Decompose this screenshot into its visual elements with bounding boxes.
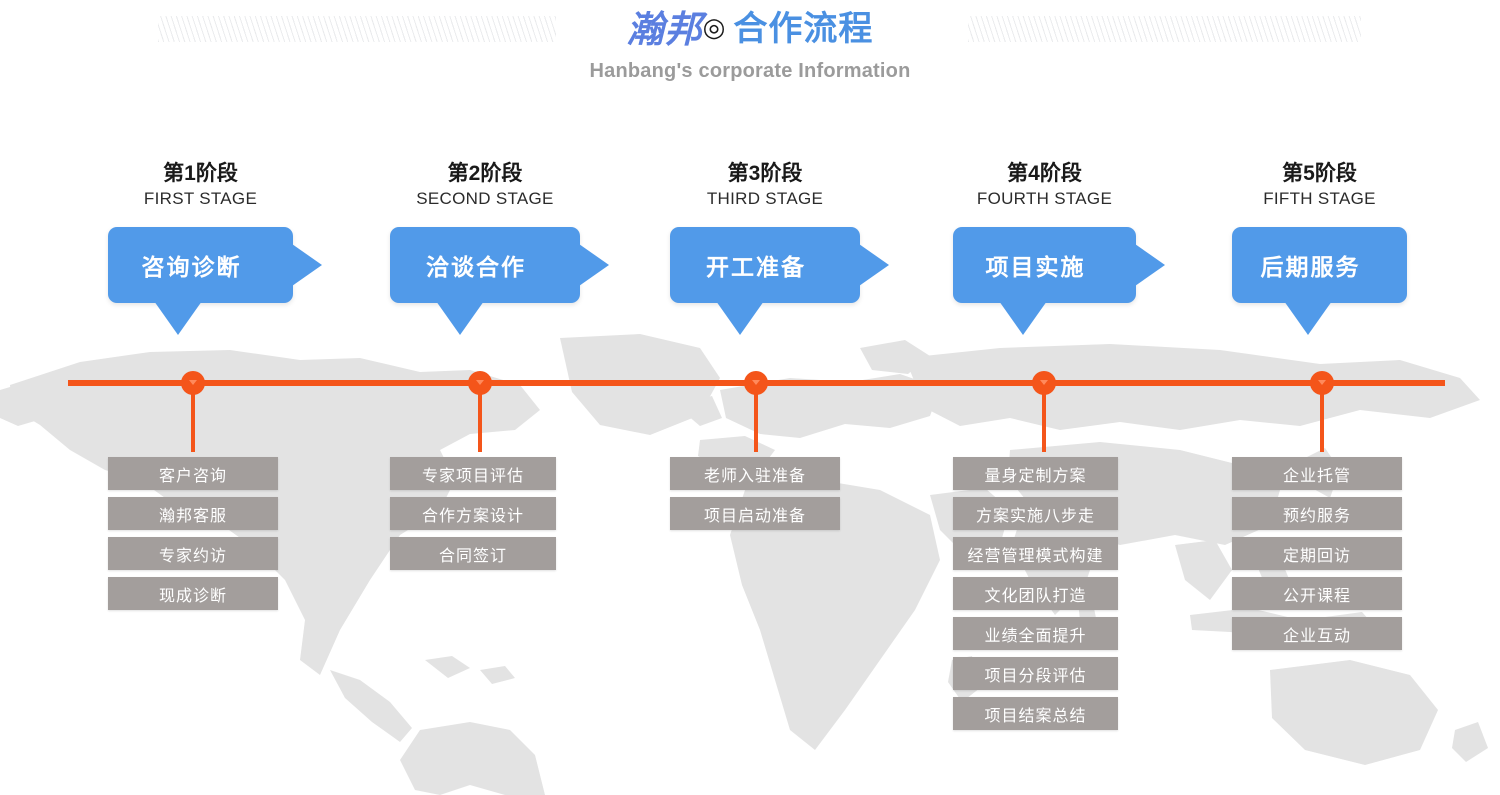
stage-number-en: THIRD STAGE [670,187,860,211]
stage-bubble-label: 项目实施 [986,248,1104,282]
stage-number-cn: 第4阶段 [953,160,1136,187]
list-item[interactable]: 现成诊断 [108,577,278,610]
list-item[interactable]: 瀚邦客服 [108,497,278,530]
stage-column-3: 第3阶段THIRD STAGE开工准备 [670,160,860,337]
list-item[interactable]: 公开课程 [1232,577,1402,610]
stage-bubble-label: 开工准备 [706,248,824,282]
stage-column-4: 第4阶段FOURTH STAGE项目实施 [953,160,1136,337]
list-item[interactable]: 企业托管 [1232,457,1402,490]
stage-heading-2: 第2阶段SECOND STAGE [390,160,580,211]
timeline-dot-3[interactable] [744,371,768,395]
bubble-right-arrow-icon [292,244,322,286]
list-item[interactable]: 项目分段评估 [953,657,1118,690]
stage-bubble-label: 后期服务 [1261,248,1379,282]
timeline-dot-5[interactable] [1310,371,1334,395]
stage-bubble-wrap-4: 项目实施 [953,227,1136,337]
stage-number-en: FIFTH STAGE [1232,187,1407,211]
bubble-down-pointer-icon [716,301,764,335]
list-item[interactable]: 专家约访 [108,537,278,570]
stage-column-1: 第1阶段FIRST STAGE咨询诊断 [108,160,293,337]
timeline-dot-2[interactable] [468,371,492,395]
stage-bubble-label: 洽谈合作 [426,248,544,282]
list-item[interactable]: 企业互动 [1232,617,1402,650]
list-item[interactable]: 客户咨询 [108,457,278,490]
stage-bubble-5[interactable]: 后期服务 [1232,227,1407,303]
list-item[interactable]: 文化团队打造 [953,577,1118,610]
stage-number-en: FOURTH STAGE [953,187,1136,211]
stage-number-cn: 第5阶段 [1232,160,1407,187]
stage-bubble-1[interactable]: 咨询诊断 [108,227,293,303]
stage-item-list-4: 量身定制方案方案实施八步走经营管理模式构建文化团队打造业绩全面提升项目分段评估项… [953,457,1118,737]
stage-number-cn: 第3阶段 [670,160,860,187]
bubble-right-arrow-icon [579,244,609,286]
stage-bubble-wrap-2: 洽谈合作 [390,227,580,337]
stage-item-list-3: 老师入驻准备项目启动准备 [670,457,840,537]
bubble-right-arrow-icon [1135,244,1165,286]
list-item[interactable]: 量身定制方案 [953,457,1118,490]
bubble-down-pointer-icon [999,301,1047,335]
stage-number-en: SECOND STAGE [390,187,580,211]
stage-column-5: 第5阶段FIFTH STAGE后期服务 [1232,160,1407,337]
stage-heading-1: 第1阶段FIRST STAGE [108,160,293,211]
list-item[interactable]: 项目结案总结 [953,697,1118,730]
stage-item-list-2: 专家项目评估合作方案设计合同签订 [390,457,556,577]
stage-number-en: FIRST STAGE [108,187,293,211]
list-item[interactable]: 老师入驻准备 [670,457,840,490]
timeline-dot-1[interactable] [181,371,205,395]
stage-number-cn: 第2阶段 [390,160,580,187]
stage-bubble-3[interactable]: 开工准备 [670,227,860,303]
stage-bubble-4[interactable]: 项目实施 [953,227,1136,303]
list-item[interactable]: 方案实施八步走 [953,497,1118,530]
stage-bubble-label: 咨询诊断 [142,248,260,282]
list-item[interactable]: 定期回访 [1232,537,1402,570]
stage-container: 第1阶段FIRST STAGE咨询诊断客户咨询瀚邦客服专家约访现成诊断第2阶段S… [0,0,1500,795]
list-item[interactable]: 专家项目评估 [390,457,556,490]
stage-heading-4: 第4阶段FOURTH STAGE [953,160,1136,211]
list-item[interactable]: 合作方案设计 [390,497,556,530]
bubble-down-pointer-icon [436,301,484,335]
stage-heading-3: 第3阶段THIRD STAGE [670,160,860,211]
stage-bubble-wrap-1: 咨询诊断 [108,227,293,337]
stage-column-2: 第2阶段SECOND STAGE洽谈合作 [390,160,580,337]
timeline-dot-4[interactable] [1032,371,1056,395]
stage-bubble-wrap-3: 开工准备 [670,227,860,337]
stage-item-list-1: 客户咨询瀚邦客服专家约访现成诊断 [108,457,278,617]
stage-bubble-wrap-5: 后期服务 [1232,227,1407,337]
list-item[interactable]: 合同签订 [390,537,556,570]
list-item[interactable]: 业绩全面提升 [953,617,1118,650]
stage-number-cn: 第1阶段 [108,160,293,187]
bubble-down-pointer-icon [1284,301,1332,335]
bubble-right-arrow-icon [859,244,889,286]
stage-item-list-5: 企业托管预约服务定期回访公开课程企业互动 [1232,457,1402,657]
bubble-down-pointer-icon [154,301,202,335]
list-item[interactable]: 预约服务 [1232,497,1402,530]
stage-heading-5: 第5阶段FIFTH STAGE [1232,160,1407,211]
list-item[interactable]: 经营管理模式构建 [953,537,1118,570]
stage-bubble-2[interactable]: 洽谈合作 [390,227,580,303]
list-item[interactable]: 项目启动准备 [670,497,840,530]
